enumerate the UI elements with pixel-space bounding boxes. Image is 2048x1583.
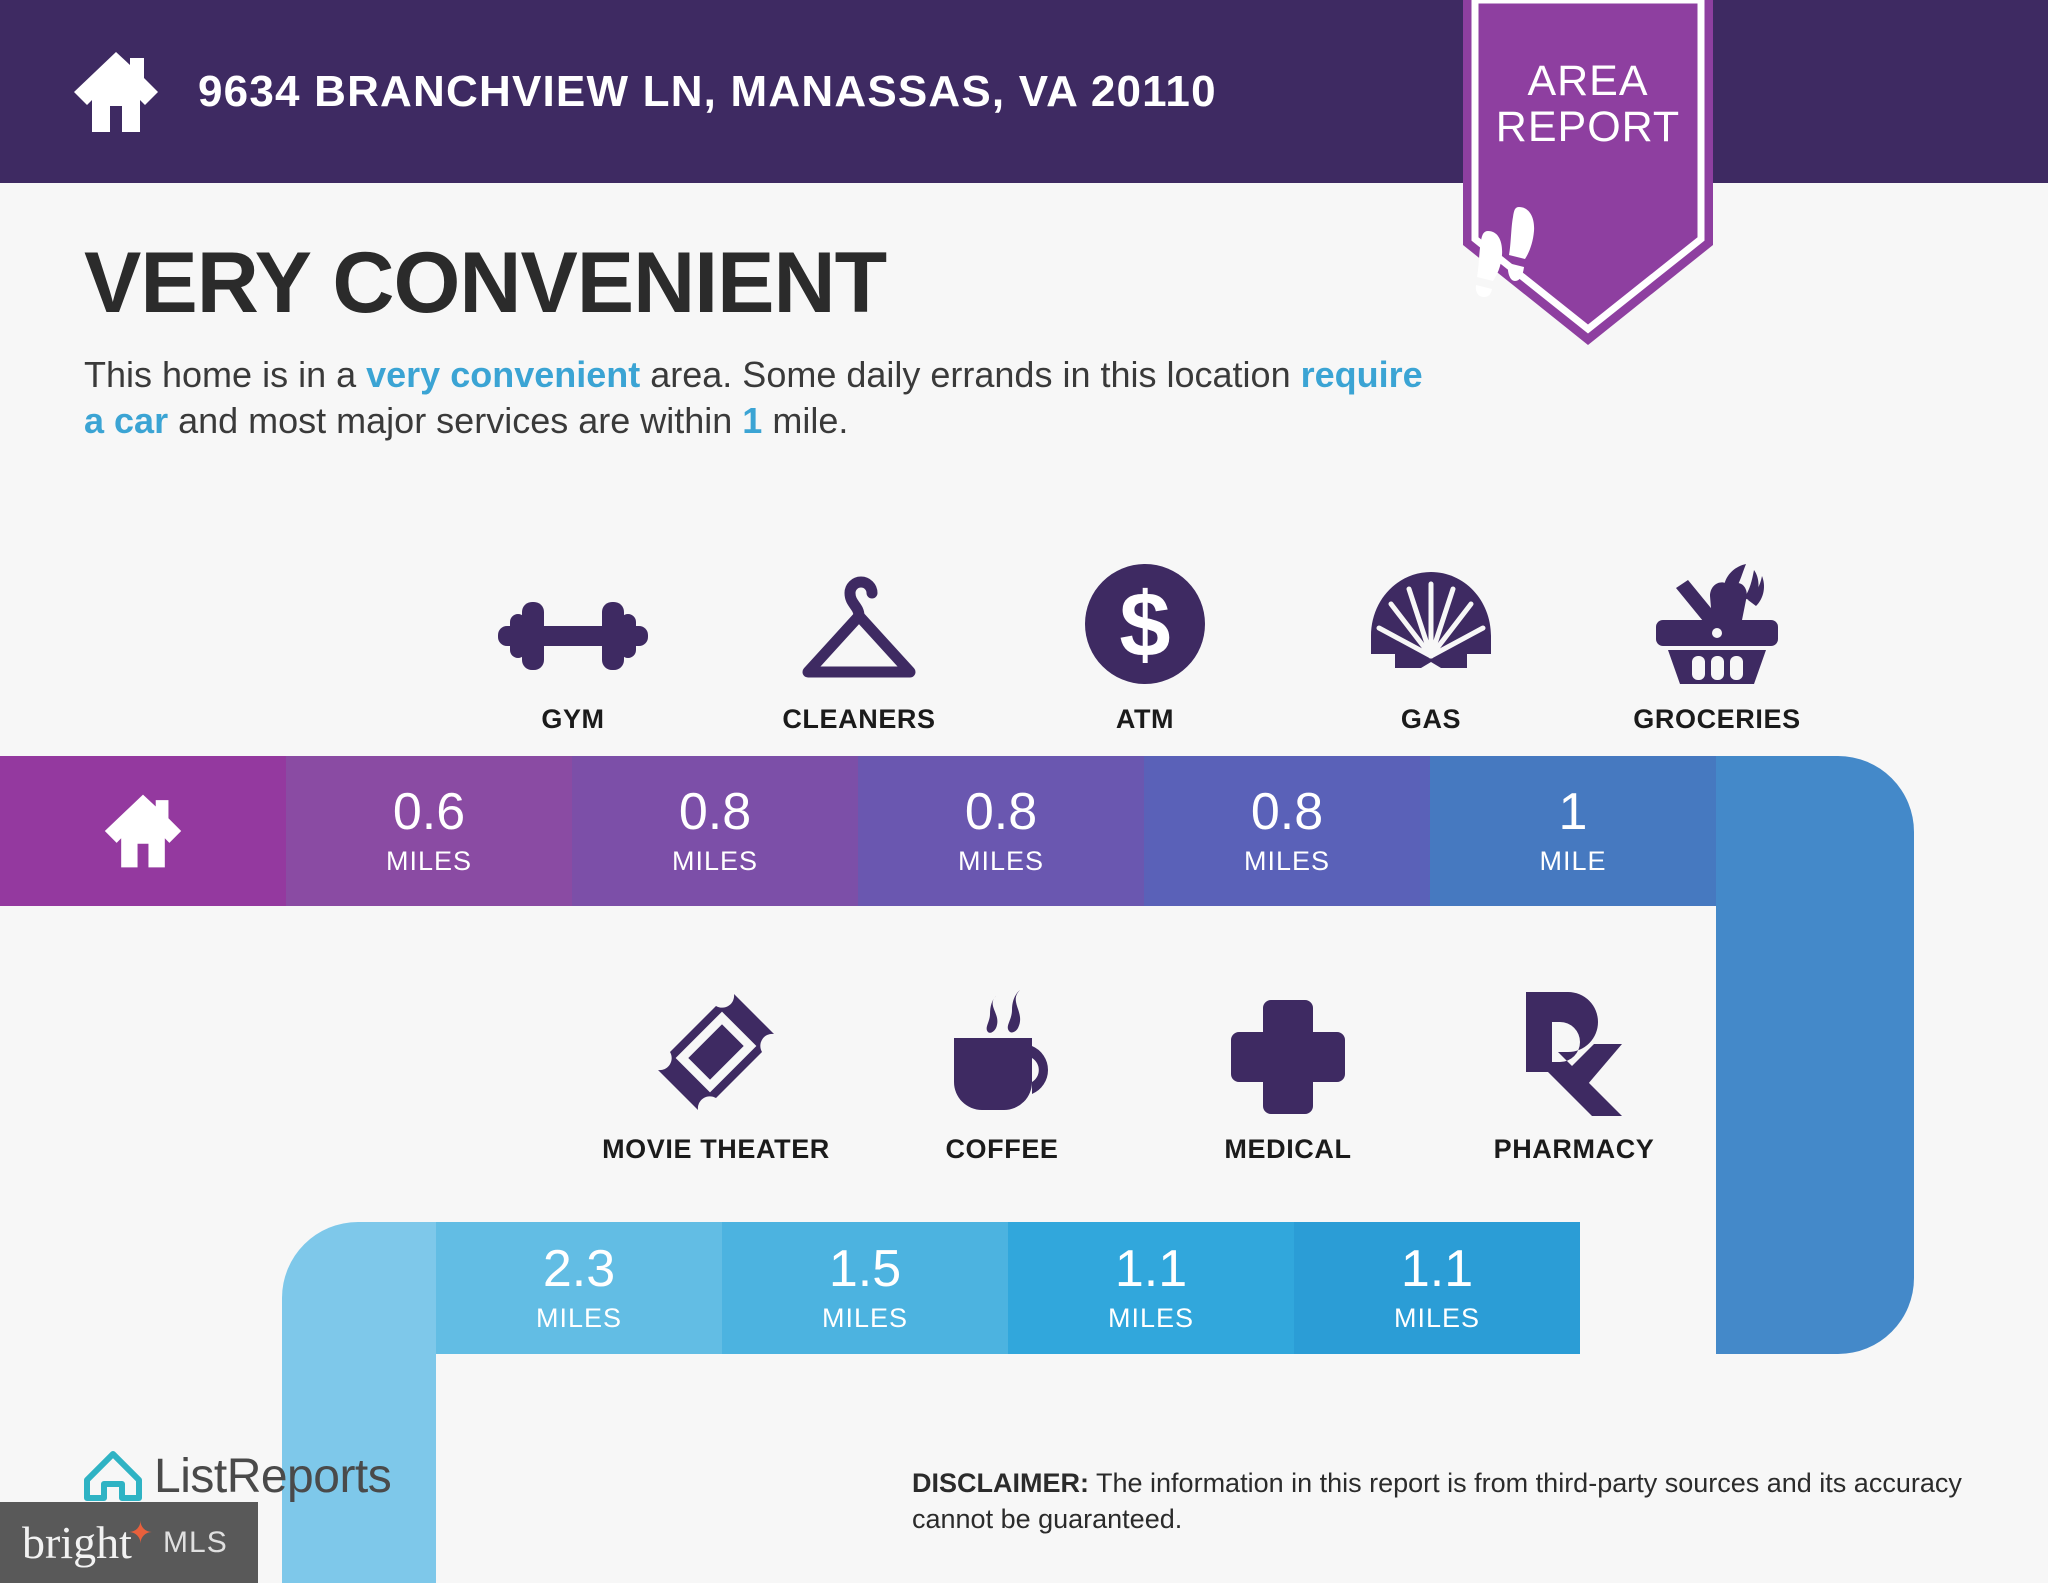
coffee-icon bbox=[940, 990, 1064, 1116]
distance-cell-gym: 0.6 MILES bbox=[286, 756, 572, 906]
poi-label: GROCERIES bbox=[1633, 704, 1800, 735]
distance-cell-movie-theater: 2.3 MILES bbox=[436, 1222, 722, 1354]
poi-gas: GAS bbox=[1288, 560, 1574, 735]
footprints-icon bbox=[1463, 205, 1713, 297]
shell-icon bbox=[1369, 560, 1493, 686]
distance-unit: MILES bbox=[1394, 1303, 1480, 1334]
rx-icon bbox=[1518, 990, 1630, 1116]
dollar-icon: $ bbox=[1083, 560, 1207, 686]
dumbbell-icon bbox=[498, 560, 648, 686]
house-outline-icon bbox=[82, 1448, 144, 1504]
distance-value: 1.5 bbox=[829, 1243, 901, 1295]
distance-unit: MILES bbox=[822, 1303, 908, 1334]
poi-label: MOVIE THEATER bbox=[602, 1134, 830, 1165]
bright-mls-badge: bright ✦ MLS bbox=[0, 1502, 258, 1583]
distance-unit: MILES bbox=[536, 1303, 622, 1334]
poi-atm: $ ATM bbox=[1002, 560, 1288, 735]
poi-label: COFFEE bbox=[945, 1134, 1058, 1165]
home-marker-cell bbox=[0, 756, 286, 906]
distance-value: 0.8 bbox=[965, 786, 1037, 838]
poi-label: GYM bbox=[541, 704, 604, 735]
area-report-badge: AREA REPORT bbox=[1463, 0, 1713, 345]
poi-movie-theater: MOVIE THEATER bbox=[573, 990, 859, 1165]
home-icon bbox=[101, 791, 185, 871]
distance-value: 0.6 bbox=[393, 786, 465, 838]
distance-unit: MILES bbox=[958, 846, 1044, 877]
distance-unit: MILES bbox=[1108, 1303, 1194, 1334]
bright-wordmark: bright bbox=[22, 1516, 132, 1569]
poi-groceries: GROCERIES bbox=[1574, 560, 1860, 735]
poi-cleaners: CLEANERS bbox=[716, 560, 1002, 735]
distance-unit: MILES bbox=[386, 846, 472, 877]
distance-value: 0.8 bbox=[1251, 786, 1323, 838]
poi-gym: GYM bbox=[430, 560, 716, 735]
poi-label: GAS bbox=[1401, 704, 1461, 735]
badge-title: AREA REPORT bbox=[1463, 58, 1713, 151]
mls-wordmark: MLS bbox=[163, 1526, 228, 1560]
star-icon: ✦ bbox=[128, 1516, 153, 1551]
distance-cell-gas: 0.8 MILES bbox=[1144, 756, 1430, 906]
row-2-icons: MOVIE THEATER COFFEE MEDICAL bbox=[573, 990, 1717, 1165]
distance-cell-atm: 0.8 MILES bbox=[858, 756, 1144, 906]
badge-line-2: REPORT bbox=[1463, 104, 1713, 150]
row-2-distances: 2.3 MILES 1.5 MILES 1.1 MILES 1.1 MILES bbox=[436, 1222, 1580, 1354]
poi-label: PHARMACY bbox=[1494, 1134, 1655, 1165]
disclaimer-label: DISCLAIMER: bbox=[912, 1468, 1089, 1498]
poi-medical: MEDICAL bbox=[1145, 990, 1431, 1165]
listreports-logo: ListReports bbox=[82, 1448, 391, 1504]
row-1-icons: GYM CLEANERS $ ATM bbox=[430, 560, 1860, 735]
distance-unit: MILES bbox=[672, 846, 758, 877]
hanger-icon bbox=[798, 560, 920, 686]
distance-value: 1.1 bbox=[1115, 1243, 1187, 1295]
distance-cell-pharmacy: 1.1 MILES bbox=[1294, 1222, 1580, 1354]
distance-value: 1.1 bbox=[1401, 1243, 1473, 1295]
badge-line-1: AREA bbox=[1463, 58, 1713, 104]
basket-icon bbox=[1650, 560, 1784, 686]
row-1-distances: 0.6 MILES 0.8 MILES 0.8 MILES 0.8 MILES … bbox=[0, 756, 1716, 906]
ticket-icon bbox=[652, 990, 780, 1116]
distance-value: 2.3 bbox=[543, 1243, 615, 1295]
distance-value: 1 bbox=[1559, 786, 1588, 838]
svg-text:$: $ bbox=[1119, 574, 1170, 676]
poi-label: ATM bbox=[1116, 704, 1174, 735]
cross-icon bbox=[1229, 990, 1347, 1116]
distance-unit: MILES bbox=[1244, 846, 1330, 877]
distance-value: 0.8 bbox=[679, 786, 751, 838]
poi-label: CLEANERS bbox=[782, 704, 935, 735]
poi-coffee: COFFEE bbox=[859, 990, 1145, 1165]
distance-cell-cleaners: 0.8 MILES bbox=[572, 756, 858, 906]
poi-pharmacy: PHARMACY bbox=[1431, 990, 1717, 1165]
listreports-wordmark: ListReports bbox=[154, 1449, 391, 1504]
disclaimer: DISCLAIMER: The information in this repo… bbox=[912, 1466, 1972, 1537]
poi-label: MEDICAL bbox=[1224, 1134, 1351, 1165]
distance-cell-medical: 1.1 MILES bbox=[1008, 1222, 1294, 1354]
distance-unit: MILE bbox=[1539, 846, 1606, 877]
distance-cell-coffee: 1.5 MILES bbox=[722, 1222, 1008, 1354]
distance-cell-groceries: 1 MILE bbox=[1430, 756, 1716, 906]
